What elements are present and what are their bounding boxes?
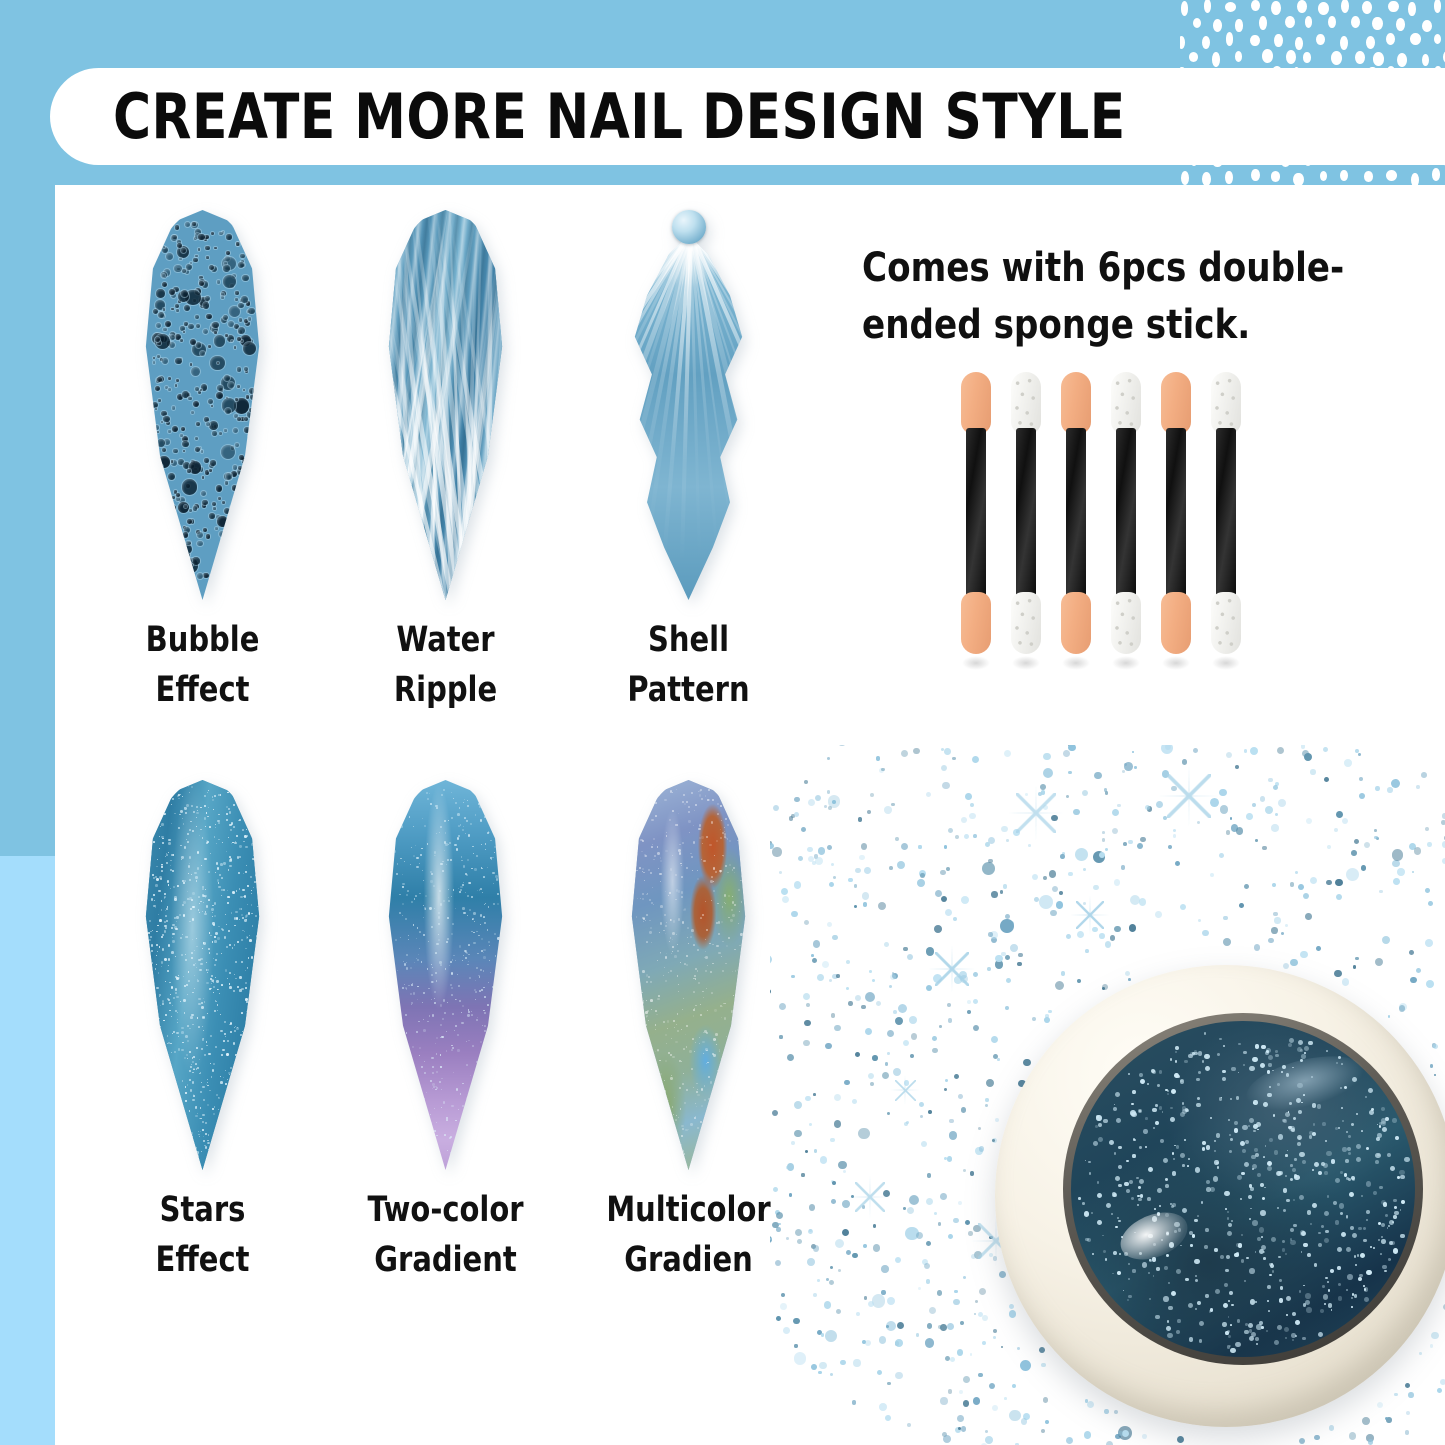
- sponge-stick-4: [1108, 372, 1144, 654]
- ripple-texture: [387, 210, 505, 600]
- sponge-stick-6: [1208, 372, 1244, 654]
- sponge-tip-bottom: [1111, 592, 1141, 654]
- shell-pattern-nail-image: [628, 210, 750, 600]
- sponge-tip-top: [1111, 372, 1141, 434]
- sparkle-star-icon: [928, 945, 976, 993]
- shell-pattern-label: Shell Pattern: [585, 616, 792, 715]
- bubble-texture: [144, 210, 262, 600]
- label-line-2: Effect: [99, 1236, 306, 1286]
- sponge-tip-bottom: [1211, 592, 1241, 654]
- sponge-stick-2: [1008, 372, 1044, 654]
- sponge-tip-top: [1061, 372, 1091, 434]
- two-color-gradient-label: Two-color Gradient: [342, 1186, 549, 1285]
- multicolor-gradien-label: Multicolor Gradien: [585, 1186, 792, 1285]
- sponge-stick-3: [1058, 372, 1094, 654]
- label-line-2: Ripple: [342, 666, 549, 716]
- sparkle-star-icon: [848, 1175, 892, 1219]
- label-line-1: Two-color: [342, 1186, 549, 1236]
- label-line-1: Shell: [585, 616, 792, 666]
- gradient-glitter-texture: [387, 780, 505, 1170]
- sponge-tip-top: [1211, 372, 1241, 434]
- sponge-stick-1: [958, 372, 994, 654]
- nail-swatch-two-color-gradient: Two-color Gradient: [333, 780, 558, 1285]
- sponge-shadow: [1212, 656, 1240, 670]
- description-line-2: ended sponge stick.: [862, 297, 1375, 354]
- multicolor-glitter-texture: [630, 780, 748, 1170]
- label-line-1: Stars: [99, 1186, 306, 1236]
- nail-swatch-stars-effect: Stars Effect: [90, 780, 315, 1285]
- product-image-canvas: CREATE MORE NAIL DESIGN STYLE Bubble Eff…: [0, 0, 1445, 1445]
- sponge-handle: [1166, 428, 1186, 600]
- nail-swatch-bubble-effect: Bubble Effect: [90, 210, 315, 715]
- water-ripple-label: Water Ripple: [342, 616, 549, 715]
- two-color-gradient-nail-image: [387, 780, 505, 1170]
- label-line-2: Gradient: [342, 1236, 549, 1286]
- sparkle-star-icon: [890, 1075, 920, 1105]
- glitter-powder-jar-image: [995, 965, 1445, 1445]
- sponge-tip-bottom: [1061, 592, 1091, 654]
- label-line-2: Gradien: [585, 1236, 792, 1286]
- stars-effect-nail-image: [144, 780, 262, 1170]
- label-line-2: Pattern: [585, 666, 792, 716]
- sponge-handle: [966, 428, 986, 600]
- sparkle-star-icon: [1070, 895, 1110, 935]
- description-line-1: Comes with 6pcs double-: [862, 240, 1375, 297]
- nail-swatch-grid: Bubble Effect Water Ripple: [90, 210, 790, 1340]
- label-line-1: Water: [342, 616, 549, 666]
- sponge-stick-5: [1158, 372, 1194, 654]
- label-line-1: Bubble: [99, 616, 306, 666]
- water-ripple-nail-image: [387, 210, 505, 600]
- sponge-shadow: [1062, 656, 1090, 670]
- bubble-effect-label: Bubble Effect: [99, 616, 306, 715]
- sponge-tip-bottom: [961, 592, 991, 654]
- sponge-handle: [1066, 428, 1086, 600]
- nail-swatch-multicolor-gradien: Multicolor Gradien: [576, 780, 801, 1285]
- sponge-shadow: [962, 656, 990, 670]
- sponge-handle: [1216, 428, 1236, 600]
- sponge-shadow: [1112, 656, 1140, 670]
- pearl-accent: [672, 210, 706, 244]
- label-line-2: Effect: [99, 666, 306, 716]
- sponge-handle: [1116, 428, 1136, 600]
- bubble-effect-nail-image: [144, 210, 262, 600]
- sponge-tip-top: [961, 372, 991, 434]
- sparkle-star-icon: [1158, 765, 1220, 827]
- nail-swatch-water-ripple: Water Ripple: [333, 210, 558, 715]
- sponge-tip-bottom: [1161, 592, 1191, 654]
- stars-glitter-texture: [144, 780, 262, 1170]
- multicolor-gradien-nail-image: [630, 780, 748, 1170]
- sponge-shadow: [1012, 656, 1040, 670]
- sponge-handle: [1016, 428, 1036, 600]
- stars-effect-label: Stars Effect: [99, 1186, 306, 1285]
- nail-swatch-shell-pattern: Shell Pattern: [576, 210, 801, 715]
- sponge-tip-bottom: [1011, 592, 1041, 654]
- sponge-shadow: [1162, 656, 1190, 670]
- sponge-stick-set-image: [958, 372, 1248, 654]
- sparkle-star-icon: [1008, 785, 1064, 841]
- shell-ray-texture: [628, 224, 750, 600]
- sponge-tip-top: [1161, 372, 1191, 434]
- sponge-tip-top: [1011, 372, 1041, 434]
- sponge-stick-description: Comes with 6pcs double- ended sponge sti…: [862, 240, 1375, 354]
- label-line-1: Multicolor: [585, 1186, 792, 1236]
- header-banner: CREATE MORE NAIL DESIGN STYLE: [50, 68, 1445, 165]
- page-title: CREATE MORE NAIL DESIGN STYLE: [113, 80, 1126, 153]
